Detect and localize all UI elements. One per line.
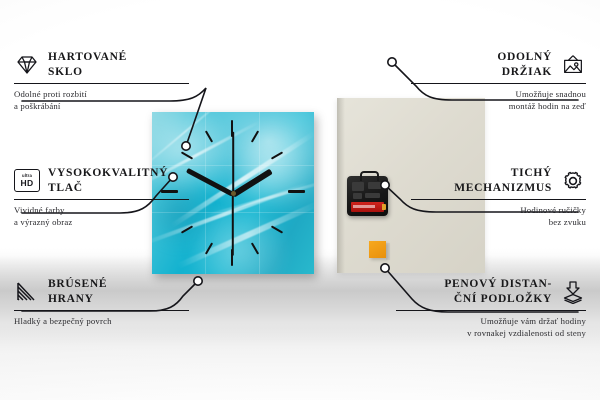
feature-high-quality-print: ultra HD VYSOKOKVALITNÝ TLAČ Vividné far…: [14, 166, 189, 228]
gear-icon: [560, 169, 586, 193]
foam-spacer-pad: [369, 241, 386, 258]
divider: [14, 199, 189, 200]
feature-description: Umožňuje vám držať hodiny v rovnakej vzd…: [396, 315, 586, 339]
mechanism-hanger-hook: [360, 171, 379, 181]
clock-second-hand-tail: [232, 132, 234, 194]
connector-node: [388, 58, 396, 66]
clock-second-hand: [232, 194, 234, 256]
feature-header: ultra HD VYSOKOKVALITNÝ TLAČ: [14, 166, 189, 195]
divider: [14, 310, 189, 311]
feature-description: Vividné farby a výrazný obraz: [14, 204, 189, 228]
foam-spacer-icon: [560, 280, 586, 304]
feature-description: Odolné proti rozbití a poškrábání: [14, 88, 189, 112]
divider: [14, 83, 189, 84]
ultra-hd-icon: ultra HD: [14, 169, 40, 193]
mechanism-detail: [368, 182, 381, 189]
battery-stripe: [353, 205, 375, 208]
picture-hanger-icon: [560, 53, 586, 77]
feature-title: PENOVÝ DISTAN- ČNÍ PODLOŽKY: [444, 277, 552, 306]
feature-header: HARTOVANÉ SKLO: [14, 50, 189, 79]
feature-description: Hladký a bezpečný povrch: [14, 315, 189, 327]
wall-panel-edge: [337, 98, 345, 273]
mechanism-detail: [353, 193, 362, 199]
feature-title: TICHÝ MECHANIZMUS: [454, 166, 552, 195]
divider: [396, 310, 586, 311]
feature-foam-spacers: PENOVÝ DISTAN- ČNÍ PODLOŽKY Umožňuje vám…: [396, 277, 586, 339]
ground-edges-icon: [14, 280, 40, 304]
feature-title: VYSOKOKVALITNÝ TLAČ: [48, 166, 168, 195]
clock-mechanism: [347, 176, 388, 216]
clock-tick-3: [288, 190, 305, 193]
ultra-hd-badge: ultra HD: [14, 169, 40, 192]
feature-title: BRÚSENÉ HRANY: [48, 277, 107, 306]
feature-title: ODOLNÝ DRŽIAK: [497, 50, 552, 79]
feature-header: BRÚSENÉ HRANY: [14, 277, 189, 306]
feature-durable-hanger: ODOLNÝ DRŽIAK Umožňuje snadnou montáž ho…: [411, 50, 586, 112]
feature-silent-mechanism: TICHÝ MECHANIZMUS Hodinové ručičky bez z…: [411, 166, 586, 228]
feature-header: PENOVÝ DISTAN- ČNÍ PODLOŽKY: [396, 277, 586, 306]
feature-hardened-glass: HARTOVANÉ SKLO Odolné proti rozbití a po…: [14, 50, 189, 112]
battery-terminal: [382, 204, 386, 210]
divider: [411, 199, 586, 200]
glass-grid-line: [259, 112, 260, 274]
product-infographic: HARTOVANÉ SKLO Odolné proti rozbití a po…: [0, 0, 600, 400]
feature-description: Hodinové ručičky bez zvuku: [411, 204, 586, 228]
feature-header: ODOLNÝ DRŽIAK: [411, 50, 586, 79]
feature-header: TICHÝ MECHANIZMUS: [411, 166, 586, 195]
battery: [351, 202, 384, 212]
foam-pad-side: [386, 243, 390, 260]
clock-center-cap: [231, 191, 236, 196]
feature-description: Umožňuje snadnou montáž hodin na zeď: [411, 88, 586, 112]
mechanism-detail: [352, 182, 364, 191]
mechanism-detail: [365, 193, 380, 198]
divider: [411, 83, 586, 84]
diamond-icon: [14, 53, 40, 77]
feature-title: HARTOVANÉ SKLO: [48, 50, 127, 79]
feature-ground-edges: BRÚSENÉ HRANY Hladký a bezpečný povrch: [14, 277, 189, 327]
